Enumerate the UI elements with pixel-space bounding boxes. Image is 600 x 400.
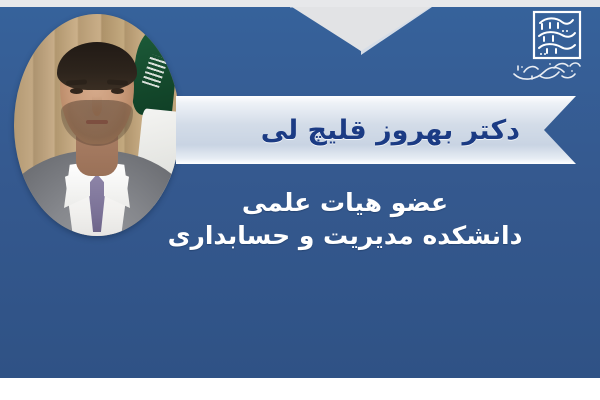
eye-left	[70, 88, 83, 94]
university-logo	[510, 10, 584, 86]
person-role: عضو هیات علمی	[130, 188, 560, 219]
nose	[92, 96, 102, 116]
subtitle-block: عضو هیات علمی دانشکده مدیریت و حسابداری	[130, 188, 560, 251]
profile-card: دکتر بهروز قلیچ لی عضو هیات علمی دانشکده…	[0, 0, 600, 400]
person-name: دکتر بهروز قلیچ لی	[176, 96, 576, 164]
person-department: دانشکده مدیریت و حسابداری	[130, 221, 560, 252]
mouth	[86, 120, 108, 124]
eye-right	[111, 88, 124, 94]
bottom-white-strip	[0, 378, 600, 400]
name-ribbon: دکتر بهروز قلیچ لی	[176, 96, 576, 164]
shahid-beheshti-logo-icon	[510, 10, 584, 86]
